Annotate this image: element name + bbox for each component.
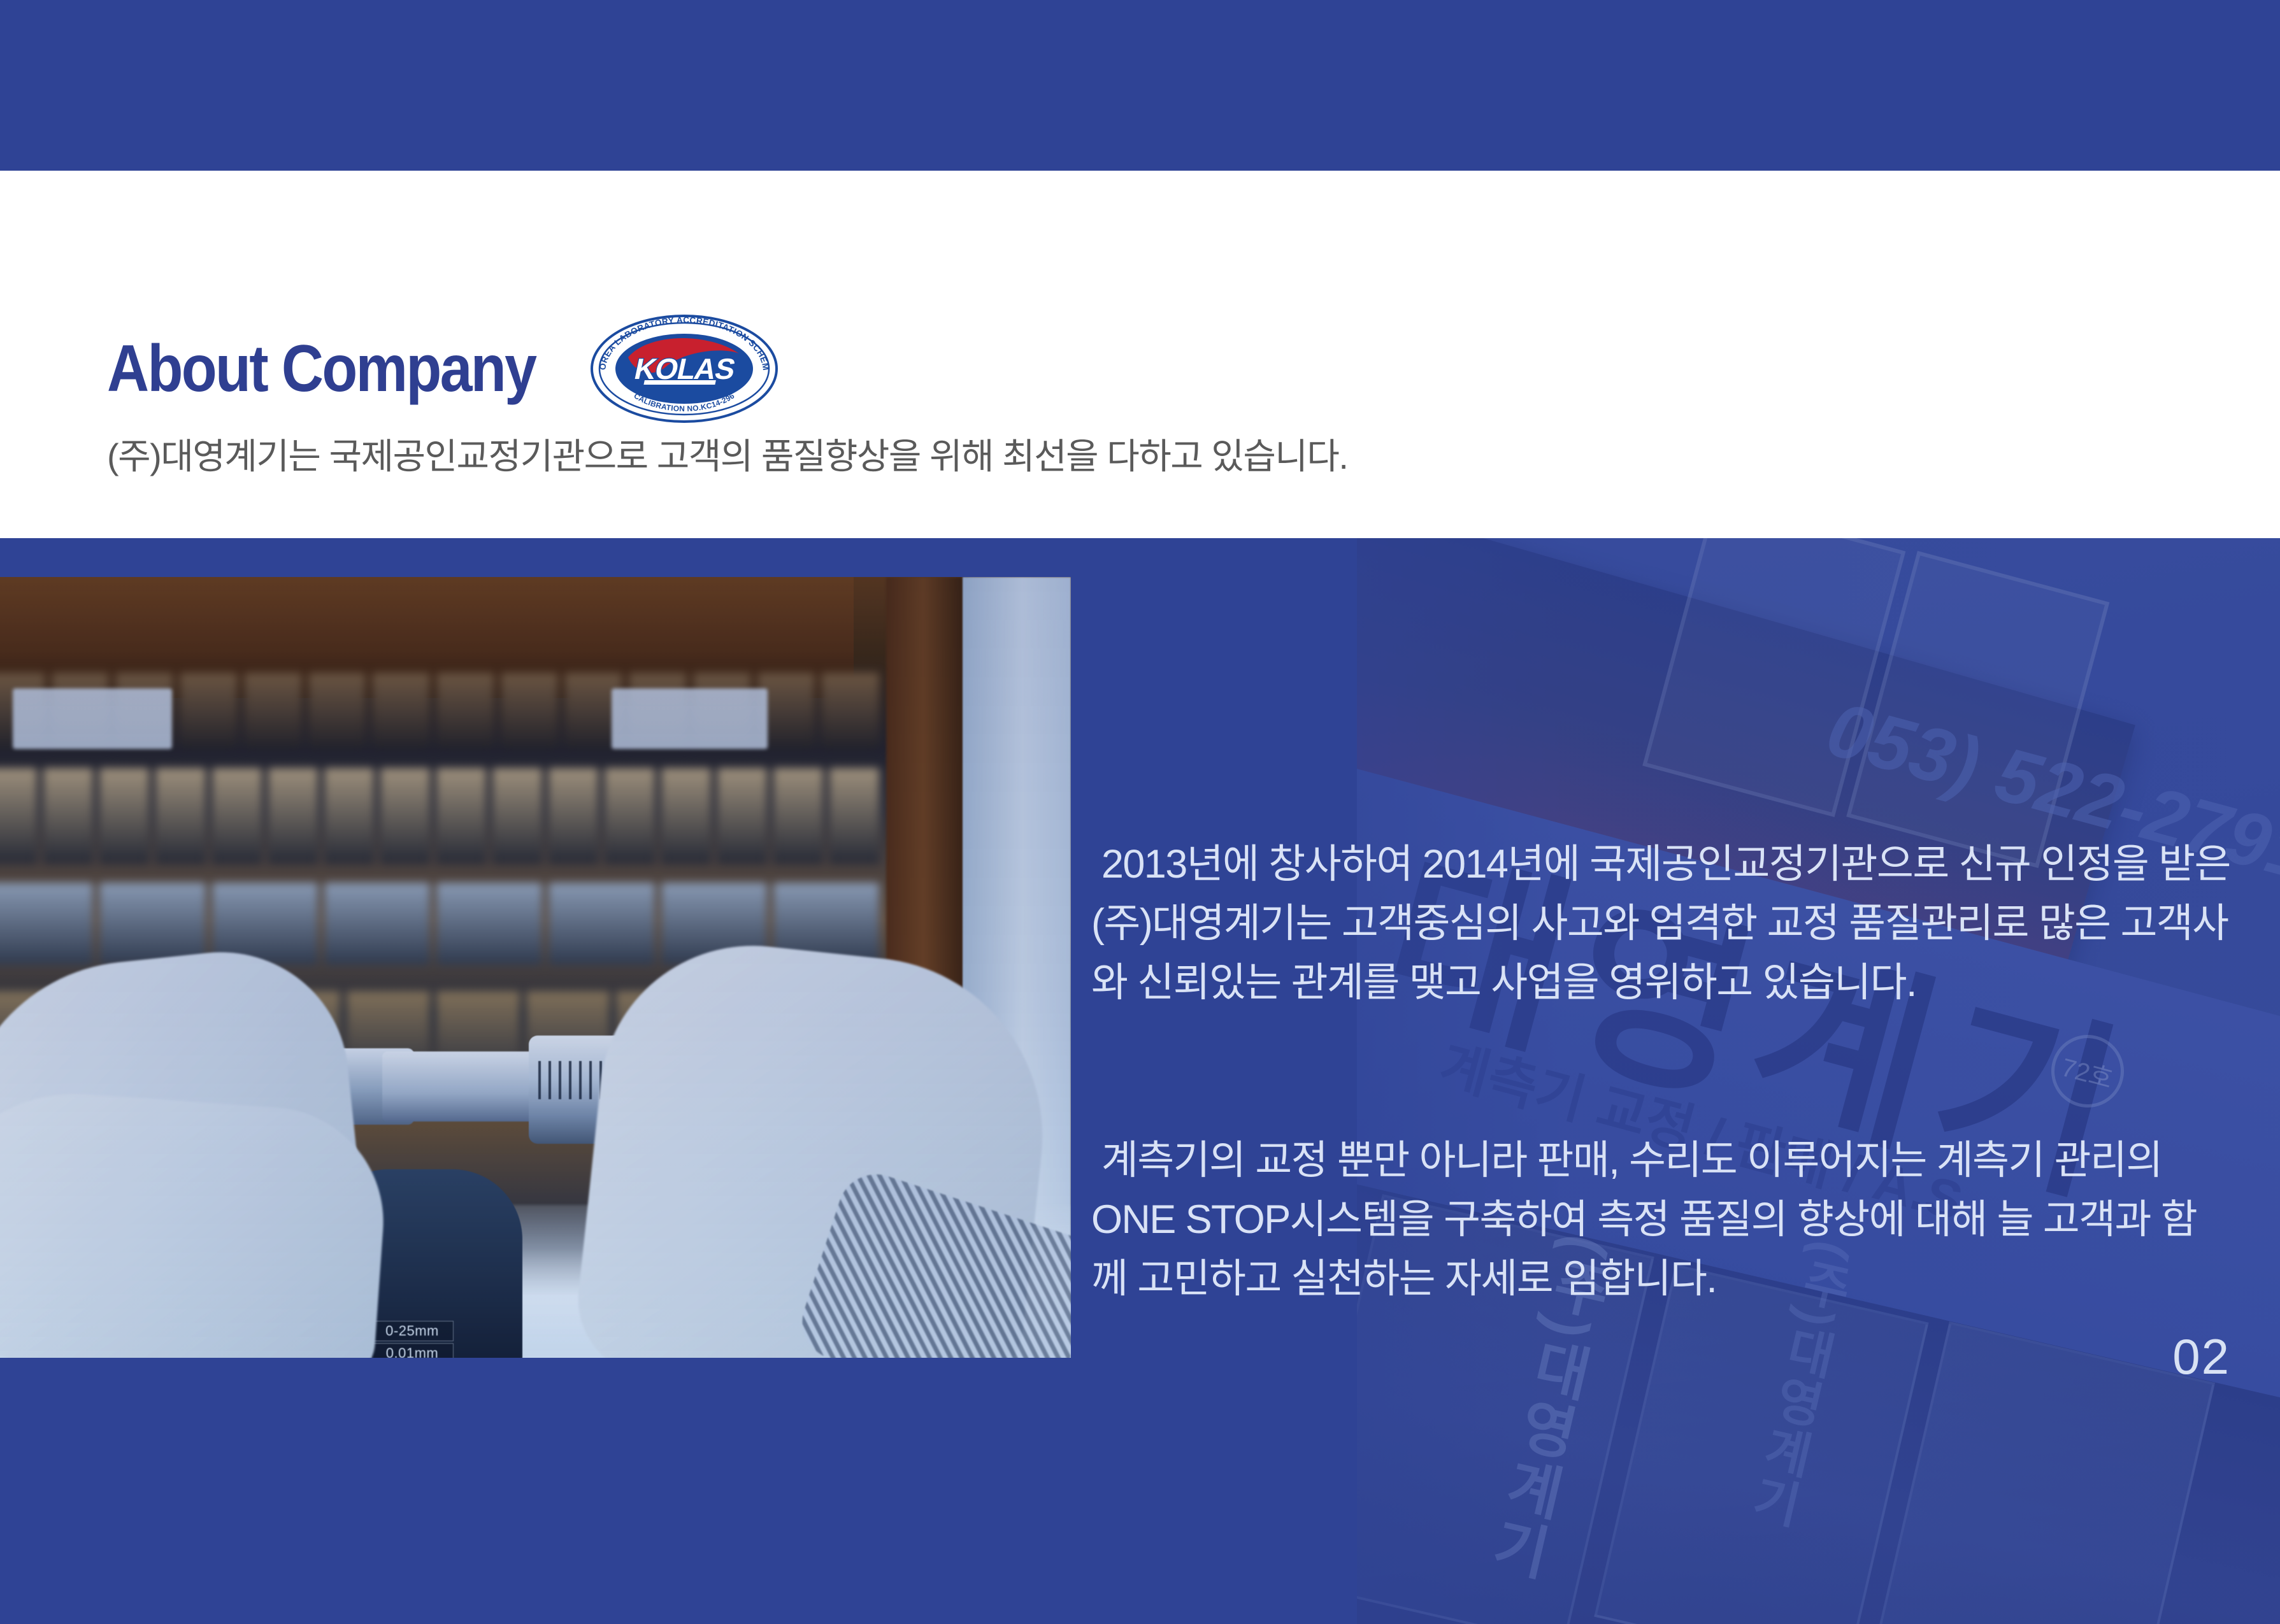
company-description-paragraph-2: 계측기의 교정 뿐만 아니라 판매, 수리도 이루어지는 계측기 관리의 ONE… [1091,1131,2232,1309]
company-description: 2013년에 창사하여 2014년에 국제공인교정기관으로 신규 인정을 받은 … [1091,716,2232,1427]
calibration-photo: 0-25mm 0.01mm NO. LSB-11B 0.1mm [0,577,1071,1358]
company-description-paragraph-1: 2013년에 창사하여 2014년에 국제공인교정기관으로 신규 인정을 받은 … [1091,835,2232,1013]
kolas-logo: KOREA LABORATORY ACCREDITATION SCHEME CA… [589,314,780,424]
header-subtitle: (주)대영계기는 국제공인교정기관으로 고객의 품질향상을 위해 최선을 다하고… [107,428,1348,480]
top-navy-band [0,0,2280,171]
page-number: 02 [2172,1328,2230,1386]
slide: About Company KOREA LABORATORY ACCREDITA… [0,0,2280,1624]
slide-body: 대영계기 계측기 교정 / 판매 / A.S 053) 522-2791 72호… [0,538,2280,1624]
page-title: About Company [107,336,535,402]
title-row: About Company KOREA LABORATORY ACCREDITA… [107,314,780,424]
slide-header: About Company KOREA LABORATORY ACCREDITA… [0,171,2280,538]
